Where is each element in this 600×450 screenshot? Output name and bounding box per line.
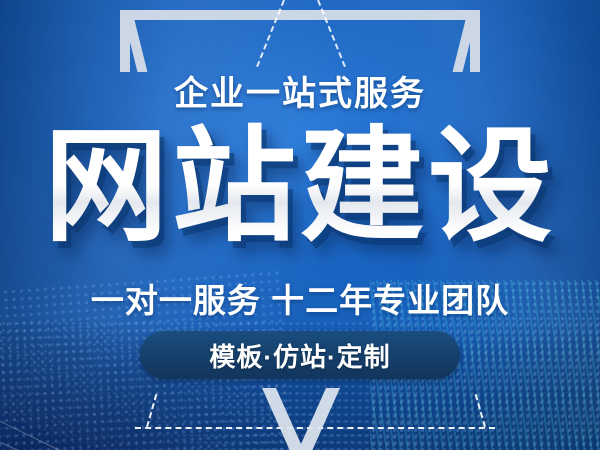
promo-banner: 企业一站式服务 网站建设 一对一服务 十二年专业团队 模板·仿站·定制 bbox=[0, 0, 600, 450]
subtitle-top: 企业一站式服务 bbox=[0, 66, 600, 115]
service-badge-label: 模板·仿站·定制 bbox=[209, 337, 390, 374]
chevron-down-icon bbox=[262, 388, 340, 450]
subtitle-bottom: 一对一服务 十二年专业团队 bbox=[0, 274, 600, 322]
service-badge: 模板·仿站·定制 bbox=[140, 331, 460, 379]
page-title: 网站建设 bbox=[0, 122, 600, 252]
